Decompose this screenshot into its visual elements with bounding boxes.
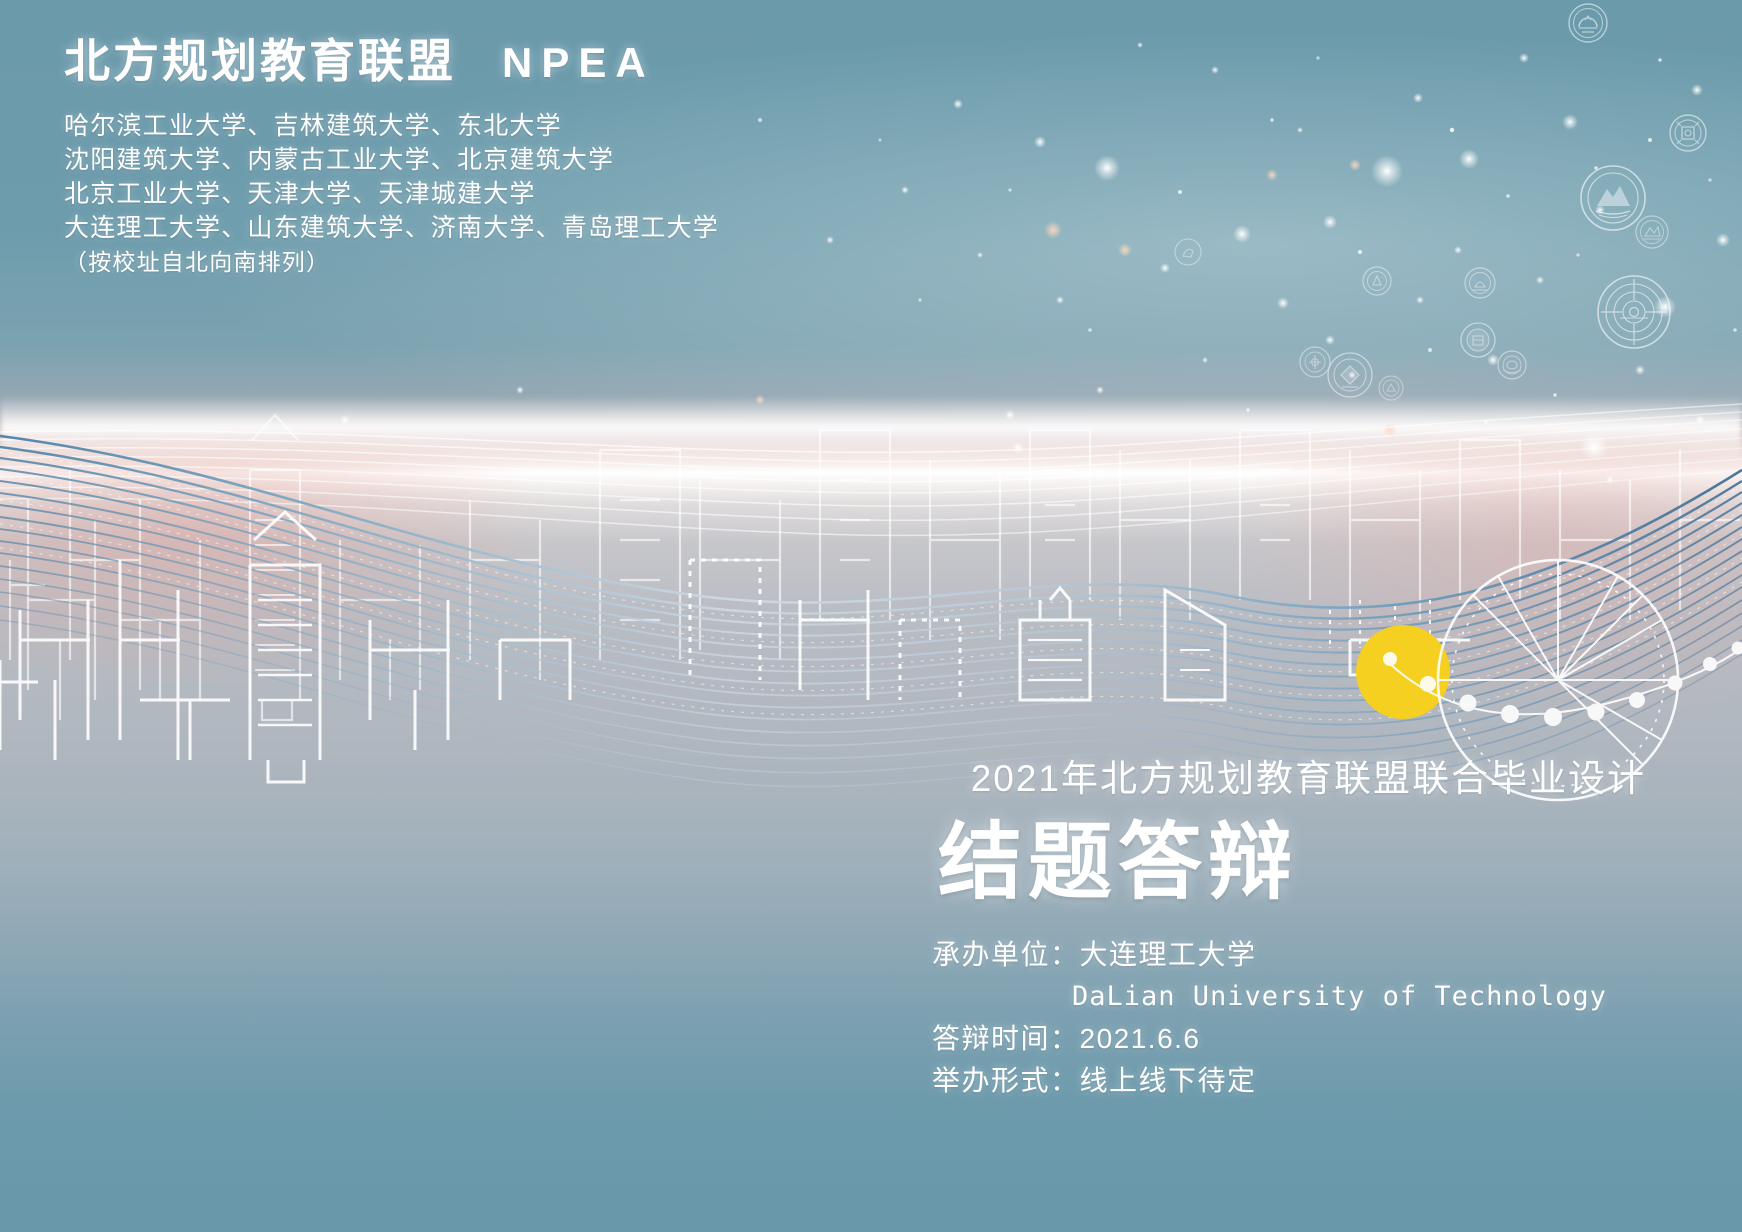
school-line: 北京工业大学、天津大学、天津城建大学 [64,177,719,211]
poster-canvas: 北方规划教育联盟 NPEA 哈尔滨工业大学、吉林建筑大学、东北大学 沈阳建筑大学… [0,0,1742,1232]
event-block: 2021年北方规划教育联盟联合毕业设计 结题答辩 承办单位：大连理工大学 DaL… [926,748,1646,1102]
sun-circle [1356,625,1450,719]
school-line: 哈尔滨工业大学、吉林建筑大学、东北大学 [64,109,719,143]
school-line: 大连理工大学、山东建筑大学、济南大学、青岛理工大学 [64,211,719,245]
pink-haze-left [0,430,560,690]
school-order-note: （按校址自北向南排列） [64,245,719,279]
member-school-list: 哈尔滨工业大学、吉林建筑大学、东北大学 沈阳建筑大学、内蒙古工业大学、北京建筑大… [64,109,719,279]
title-acronym: NPEA [502,40,655,86]
school-line: 沈阳建筑大学、内蒙古工业大学、北京建筑大学 [64,143,719,177]
horizon-glow-band [0,396,1742,466]
event-subtitle: 2021年北方规划教育联盟联合毕业设计 [926,748,1646,802]
header-block: 北方规划教育联盟 NPEA 哈尔滨工业大学、吉林建筑大学、东北大学 沈阳建筑大学… [64,36,719,279]
host-line: 承办单位：大连理工大学 [932,934,1646,976]
page-title: 北方规划教育联盟 NPEA [64,36,719,87]
event-details: 承办单位：大连理工大学 DaLian University of Technol… [926,934,1646,1102]
pink-haze-right [1222,430,1742,730]
date-line: 答辩时间：2021.6.6 [932,1018,1646,1060]
title-chinese: 北方规划教育联盟 [64,36,456,87]
format-line: 举办形式：线上线下待定 [932,1060,1646,1102]
event-title: 结题答辩 [926,816,1646,908]
host-line-english: DaLian University of Technology [932,976,1646,1018]
